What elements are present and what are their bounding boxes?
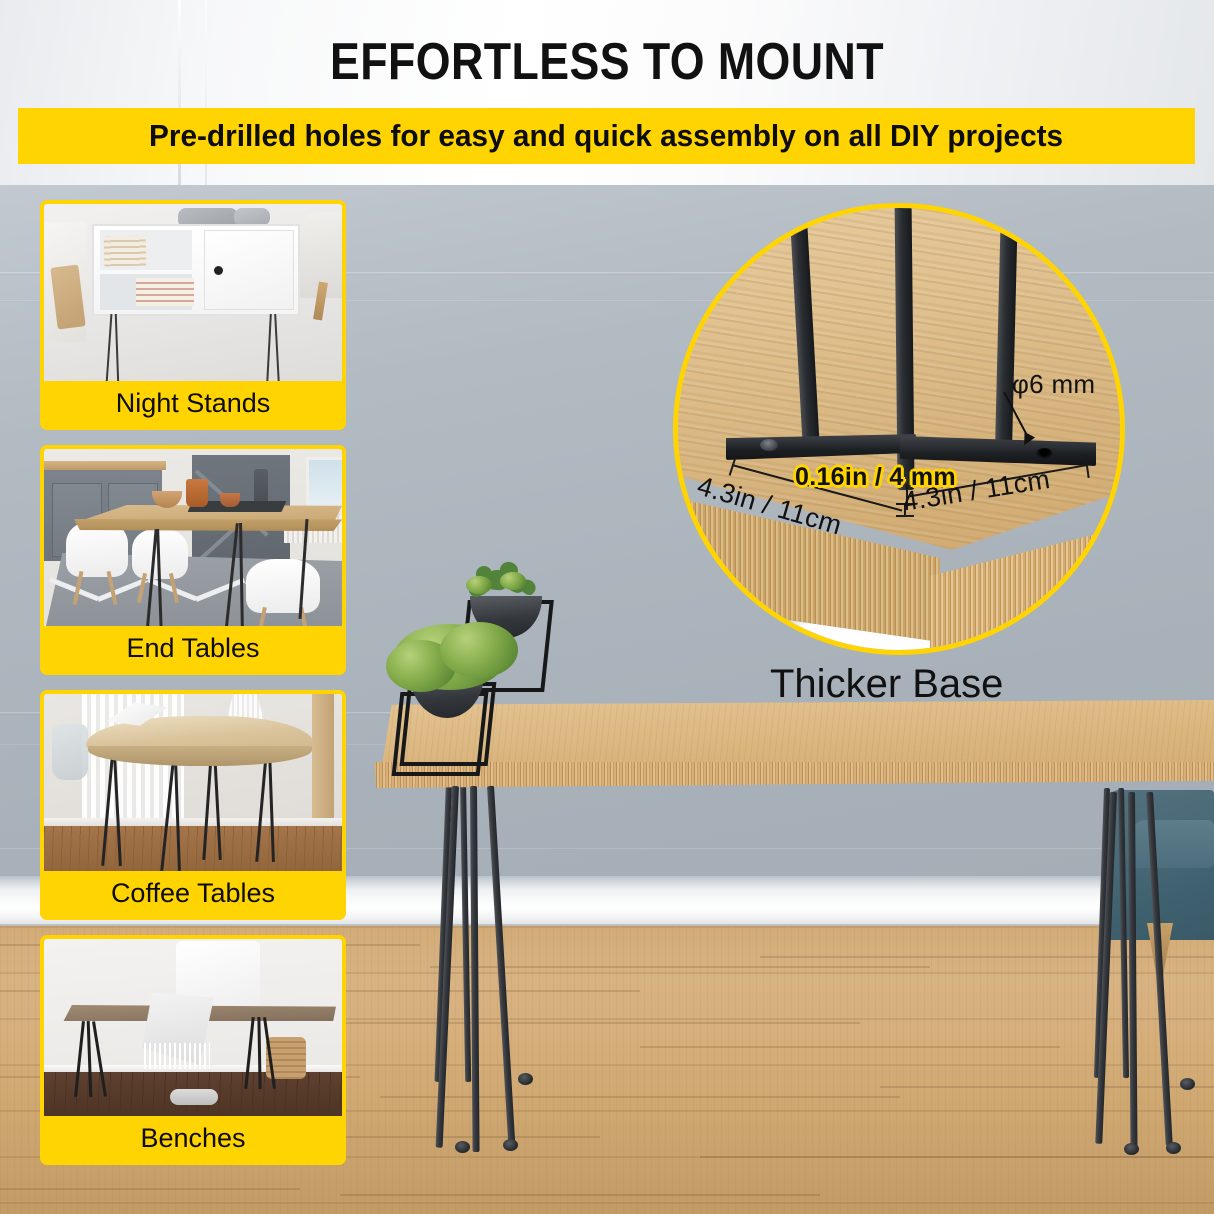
callout-caption: Thicker Base bbox=[770, 662, 1003, 707]
bench-photo bbox=[44, 939, 342, 1124]
card-label-band: Coffee Tables bbox=[44, 871, 342, 916]
floor-plank-seam bbox=[0, 1188, 300, 1190]
detail-callout-circle bbox=[673, 203, 1125, 655]
dimension-label-hole-diameter: φ6 mm bbox=[1012, 369, 1095, 400]
plant-foliage bbox=[440, 622, 518, 678]
plant-foliage bbox=[500, 572, 526, 590]
floor-plank-seam bbox=[300, 1022, 860, 1024]
hairpin-leg-foot bbox=[1166, 1142, 1181, 1154]
screw-head bbox=[760, 439, 778, 451]
hairpin-leg-foot bbox=[455, 1141, 470, 1153]
night-stand-photo bbox=[44, 204, 342, 389]
card-label-band: End Tables bbox=[44, 626, 342, 671]
hairpin-leg-foot bbox=[503, 1139, 518, 1151]
end-table-photo bbox=[44, 449, 342, 634]
use-case-label: Night Stands bbox=[116, 388, 271, 419]
floor-plank-seam bbox=[640, 1046, 1060, 1048]
use-case-card-night-stands[interactable]: Night Stands bbox=[40, 200, 346, 430]
product-marketing-image: EFFORTLESS TO MOUNT Pre-drilled holes fo… bbox=[0, 0, 1214, 1214]
subtitle-banner: Pre-drilled holes for easy and quick ass… bbox=[18, 108, 1195, 164]
use-case-card-end-tables[interactable]: End Tables bbox=[40, 445, 346, 675]
use-case-label: Coffee Tables bbox=[111, 878, 275, 909]
hairpin-leg-foot bbox=[1124, 1143, 1139, 1155]
dimension-label-thickness: 0.16in / 4 mm bbox=[795, 463, 956, 492]
floor-plank-seam bbox=[760, 956, 1214, 958]
hairpin-leg-foot bbox=[1180, 1078, 1195, 1090]
coffee-table-photo bbox=[44, 694, 342, 879]
floor-plank-seam bbox=[430, 966, 930, 968]
floor-plank-seam bbox=[700, 1156, 1214, 1158]
floor-plank-seam bbox=[340, 1194, 820, 1196]
pre-drilled-hole bbox=[1036, 448, 1053, 459]
plant-foliage bbox=[466, 576, 492, 594]
use-case-label: End Tables bbox=[126, 633, 259, 664]
hairpin-leg-foot bbox=[518, 1073, 533, 1085]
use-case-card-coffee-tables[interactable]: Coffee Tables bbox=[40, 690, 346, 920]
page-title: EFFORTLESS TO MOUNT bbox=[85, 32, 1129, 92]
armchair-cushion bbox=[1130, 820, 1214, 868]
use-case-card-benches[interactable]: Benches bbox=[40, 935, 346, 1165]
use-case-label: Benches bbox=[140, 1123, 245, 1154]
subtitle-text: Pre-drilled holes for easy and quick ass… bbox=[149, 118, 1063, 154]
card-label-band: Benches bbox=[44, 1116, 342, 1161]
floor-plank-seam bbox=[380, 1096, 900, 1098]
card-label-band: Night Stands bbox=[44, 381, 342, 426]
